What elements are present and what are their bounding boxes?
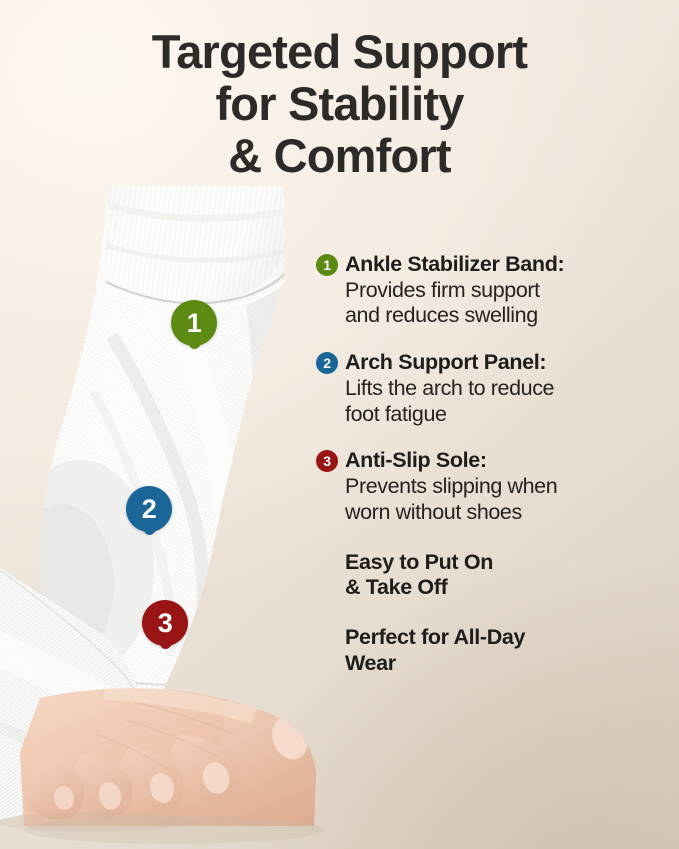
feature-1-body: Provides firm support and reduces swelli…: [345, 278, 674, 330]
feature-2-heading-row: 2 Arch Support Panel:: [316, 350, 674, 376]
feature-1-heading-row: 1 Ankle Stabilizer Band:: [316, 252, 674, 278]
feature-1-heading: Ankle Stabilizer Band:: [345, 252, 564, 278]
feature-item-2: 2 Arch Support Panel: Lifts the arch to …: [316, 350, 674, 427]
feature-2-heading: Arch Support Panel:: [345, 350, 546, 376]
benefit-item-2: Perfect for All-Day Wear: [345, 625, 674, 677]
page-title: Targeted Support for Stability & Comfort: [0, 26, 679, 182]
feature-list: 1 Ankle Stabilizer Band: Provides firm s…: [316, 252, 674, 677]
feature-2-body: Lifts the arch to reduce foot fatigue: [345, 376, 674, 428]
feature-item-3: 3 Anti-Slip Sole: Prevents slipping when…: [316, 448, 674, 525]
feature-item-1: 1 Ankle Stabilizer Band: Provides firm s…: [316, 252, 674, 329]
callout-pin-1: 1: [171, 300, 217, 346]
feature-3-heading-row: 3 Anti-Slip Sole:: [316, 448, 674, 474]
feature-3-body: Prevents slipping when worn without shoe…: [345, 474, 674, 526]
feature-3-heading: Anti-Slip Sole:: [345, 448, 487, 474]
feature-2-badge: 2: [316, 352, 338, 374]
callout-pin-3: 3: [142, 600, 188, 646]
feature-3-badge: 3: [316, 450, 338, 472]
callout-pin-2: 2: [126, 486, 172, 532]
feature-1-badge: 1: [316, 254, 338, 276]
benefit-item-1: Easy to Put On & Take Off: [345, 550, 674, 602]
